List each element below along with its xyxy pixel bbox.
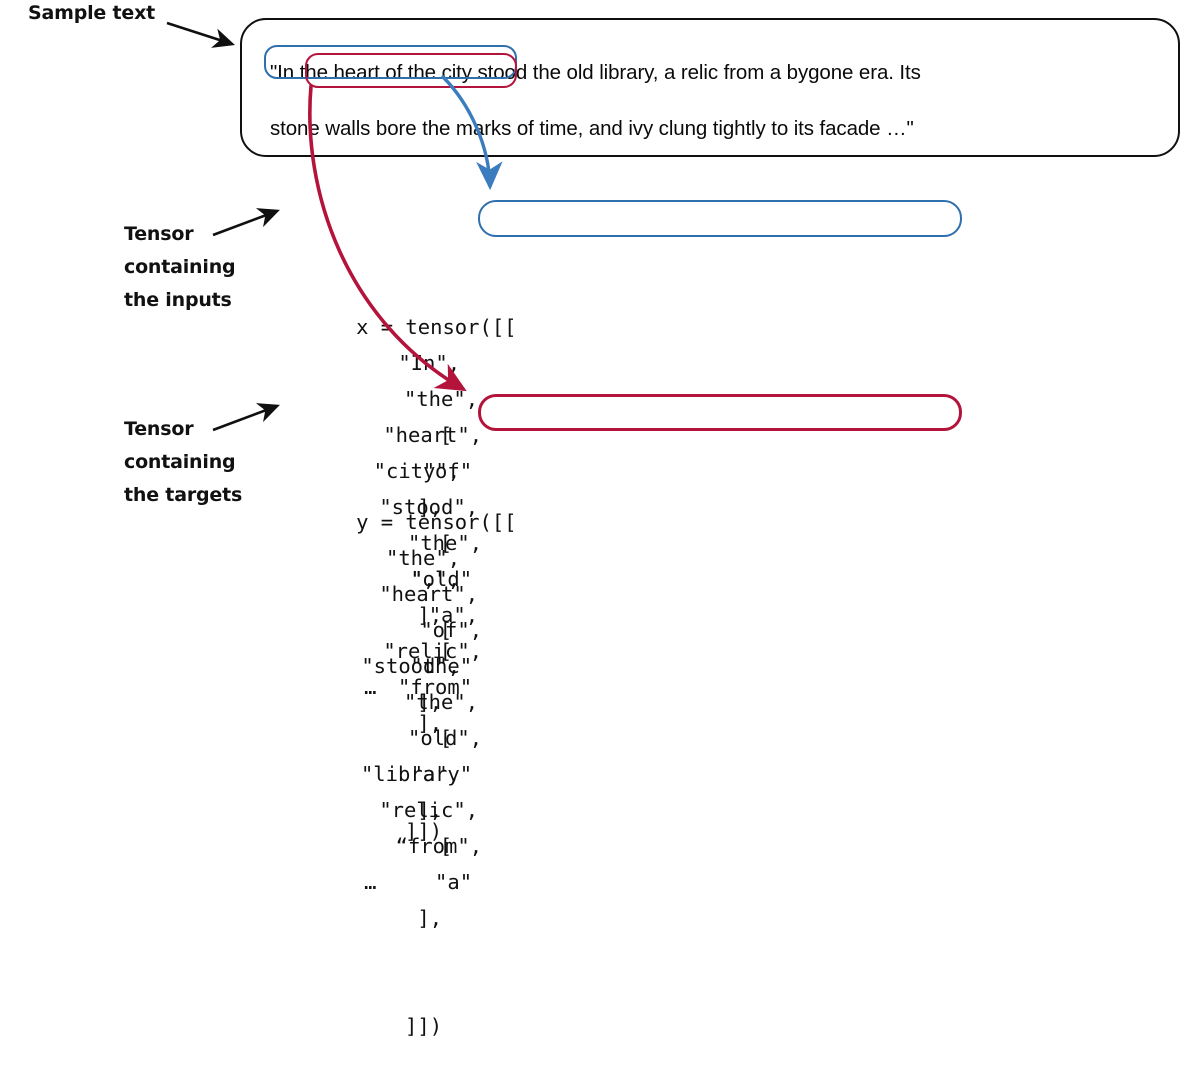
- tensor-y-tail-3: ]]): [356, 1008, 442, 1044]
- arrow-targets-label-to-y: [213, 406, 277, 430]
- curve-input-window-to-tensor-x: [443, 77, 490, 186]
- tensor-y-rowlead-1: [: [356, 612, 452, 648]
- tensor-y-rowlead-2: [: [356, 720, 452, 756]
- connector-overlay: [0, 0, 1194, 564]
- tensor-y-cell-0-1: "heart",: [356, 576, 478, 612]
- tensor-y-cell-1-1: "the",: [356, 684, 478, 720]
- tensor-y-cell-3-0: …: [356, 864, 468, 900]
- tensor-y-cell-2-1: "relic",: [356, 792, 478, 828]
- arrow-inputs-label-to-x: [213, 211, 277, 235]
- arrow-sample-text-to-box: [167, 23, 232, 44]
- tensor-y-cell-2-0: "a",: [356, 756, 460, 792]
- curve-target-window-to-tensor-y: [310, 86, 463, 389]
- tensor-y-cell-1-0: "stood",: [356, 648, 460, 684]
- diagram-canvas: Sample text Tensor containing the inputs…: [0, 0, 1194, 564]
- tensor-y-rowlead-3: [: [356, 828, 452, 864]
